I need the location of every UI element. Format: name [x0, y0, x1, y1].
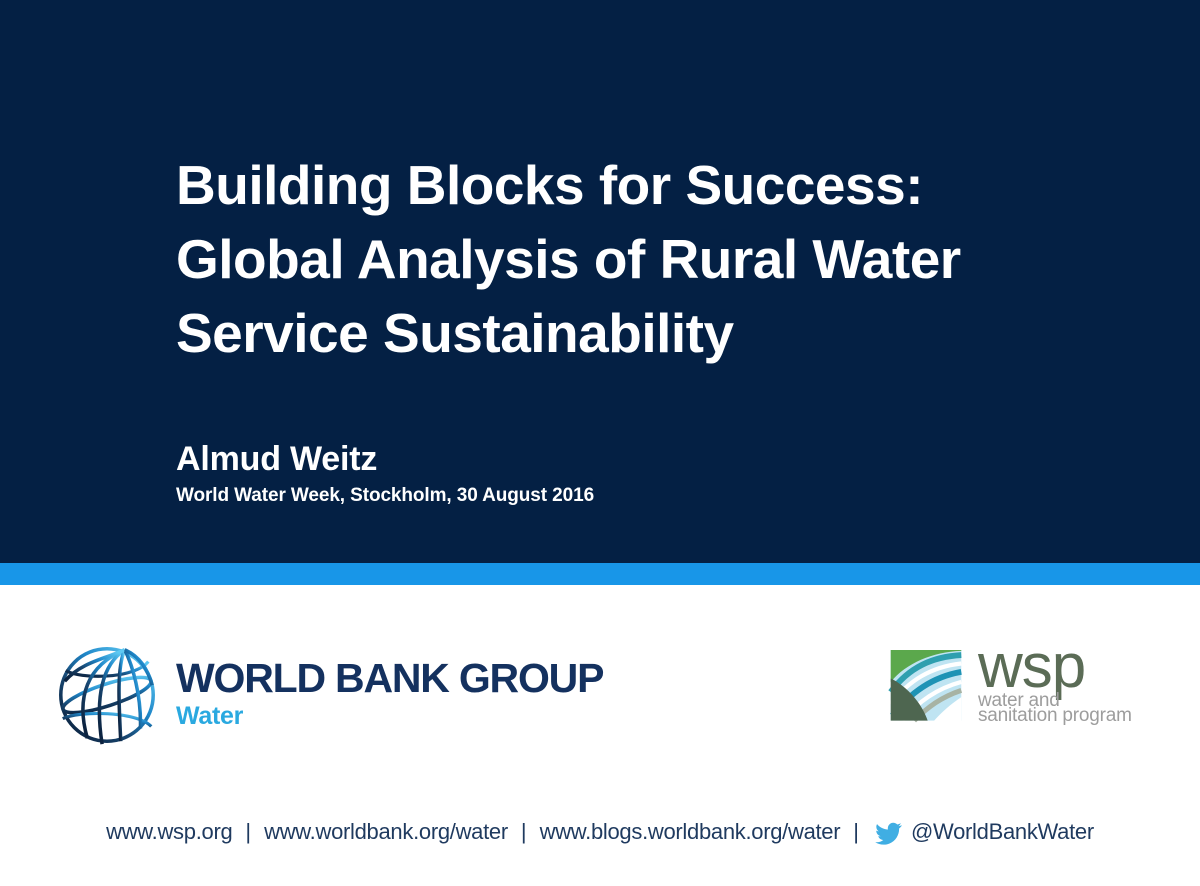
world-bank-globe-icon [48, 636, 166, 754]
footer-twitter-handle[interactable]: @WorldBankWater [911, 819, 1094, 845]
twitter-bird-icon[interactable] [874, 820, 902, 848]
author-block: Almud Weitz World Water Week, Stockholm,… [176, 437, 594, 509]
footer-link-worldbank-water[interactable]: www.worldbank.org/water [264, 819, 508, 845]
wsp-name: wsp [978, 637, 1132, 697]
footer-link-bar: www.wsp.org | www.worldbank.org/water | … [0, 818, 1200, 846]
world-bank-title: WORLD BANK GROUP [176, 656, 603, 700]
title-slide: Building Blocks for Success: Global Anal… [0, 0, 1200, 886]
footer-separator-1: | [232, 819, 264, 845]
author-event-meta: World Water Week, Stockholm, 30 August 2… [176, 483, 594, 509]
page-title: Building Blocks for Success: Global Anal… [176, 148, 1136, 370]
hero-panel: Building Blocks for Success: Global Anal… [0, 0, 1200, 563]
world-bank-wordmark: WORLD BANK GROUP Water [176, 656, 603, 735]
footer-separator-3: | [840, 819, 872, 845]
title-line-3: Service Sustainability [176, 296, 1136, 370]
footer-link-blogs-worldbank-water[interactable]: www.blogs.worldbank.org/water [540, 819, 841, 845]
footer-separator-2: | [508, 819, 540, 845]
wsp-wave-mark-icon [884, 645, 968, 729]
wsp-logo: wsp water and sanitation program [884, 645, 1132, 729]
author-name: Almud Weitz [176, 437, 594, 481]
title-line-2: Global Analysis of Rural Water [176, 222, 1136, 296]
footer-link-wsp[interactable]: www.wsp.org [106, 819, 232, 845]
title-line-1: Building Blocks for Success: [176, 148, 1136, 222]
wsp-wordmark: wsp water and sanitation program [978, 637, 1132, 727]
world-bank-subtitle: Water [176, 701, 603, 731]
accent-divider-bar [0, 563, 1200, 585]
world-bank-logo: WORLD BANK GROUP Water [48, 636, 603, 754]
hero-placeholder-text [55, 52, 115, 74]
wsp-tagline-line-2: sanitation program [978, 704, 1132, 727]
